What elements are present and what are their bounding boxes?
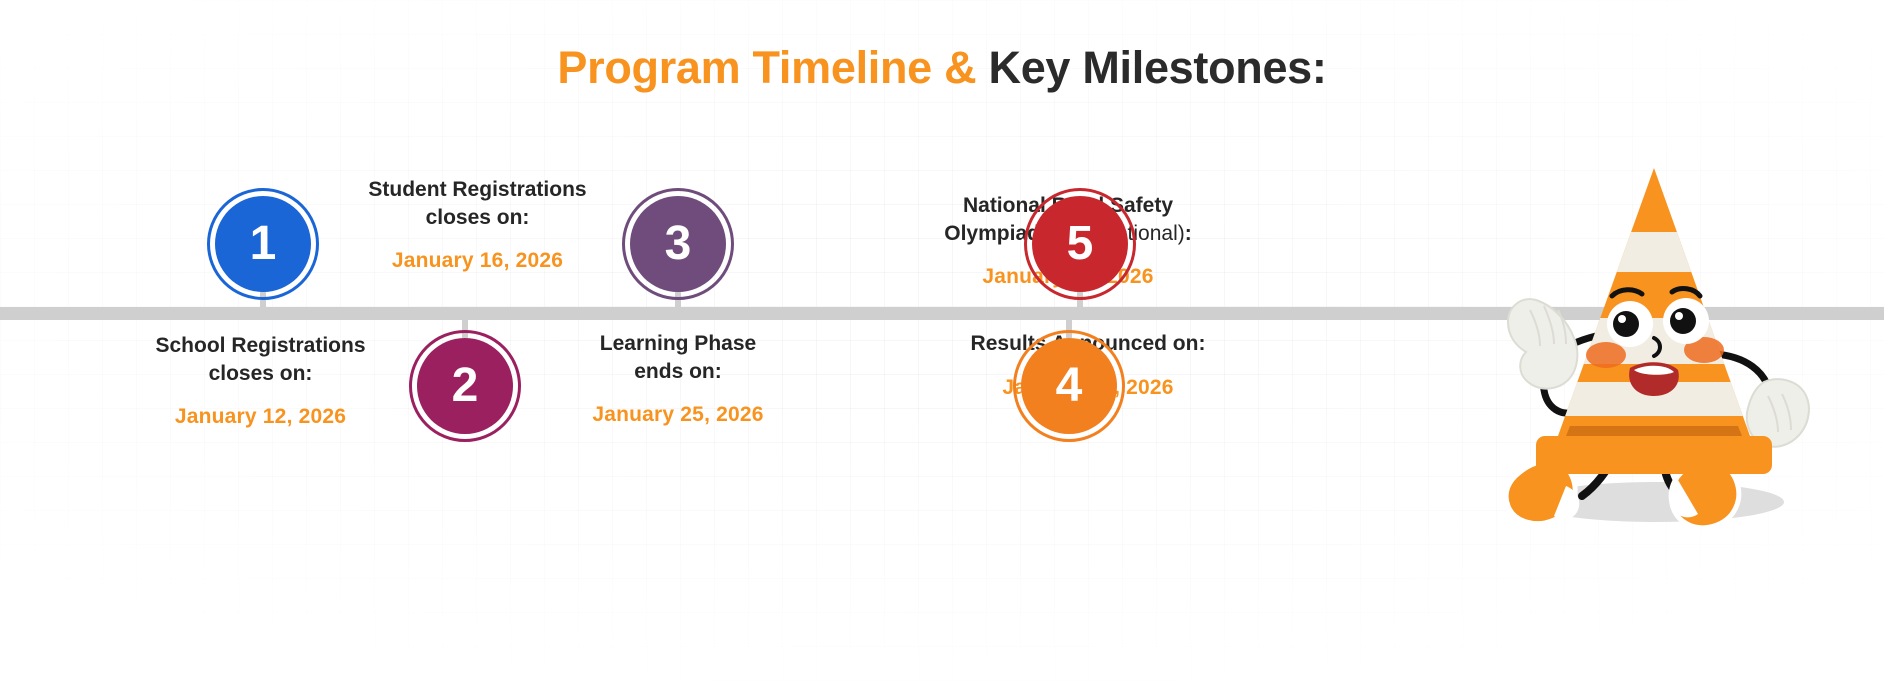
mascot-cone-base [1536, 436, 1772, 474]
milestone-1-number: 1 [250, 220, 277, 268]
milestone-3-label: Learning Phase ends on: January 25, 2026 [538, 330, 818, 427]
milestone-4-node[interactable]: 4 [1021, 338, 1117, 434]
milestone-3-node[interactable]: 3 [630, 196, 726, 292]
milestone-1-heading: School Registrations closes on: [113, 332, 408, 387]
milestone-3-date: January 25, 2026 [538, 403, 818, 427]
milestone-5-node[interactable]: 5 [1032, 196, 1128, 292]
page-title: Program Timeline & Key Milestones: [0, 42, 1884, 94]
milestone-1-node[interactable]: 1 [215, 196, 311, 292]
milestone-2-label: Student Registrations closes on: January… [330, 176, 625, 273]
mascot-left-glove [1508, 299, 1577, 388]
mascot-left-cheek [1586, 342, 1626, 368]
milestone-4-number: 4 [1056, 362, 1083, 410]
milestone-1-date: January 12, 2026 [113, 405, 408, 429]
milestone-2-node[interactable]: 2 [417, 338, 513, 434]
title-dark-part: Key Milestones: [989, 42, 1327, 93]
milestone-2-number: 2 [452, 362, 479, 410]
traffic-cone-mascot [1478, 150, 1838, 530]
milestone-4-heading-suffix: : [1185, 222, 1192, 245]
milestone-3-number: 3 [665, 220, 692, 268]
milestone-3-heading: Learning Phase ends on: [538, 330, 818, 385]
milestone-1-label: School Registrations closes on: January … [113, 332, 408, 429]
milestone-2-heading: Student Registrations closes on: [330, 176, 625, 231]
milestone-5-number: 5 [1067, 220, 1094, 268]
milestone-2-date: January 16, 2026 [330, 249, 625, 273]
title-accent-part: Program Timeline & [557, 42, 976, 93]
